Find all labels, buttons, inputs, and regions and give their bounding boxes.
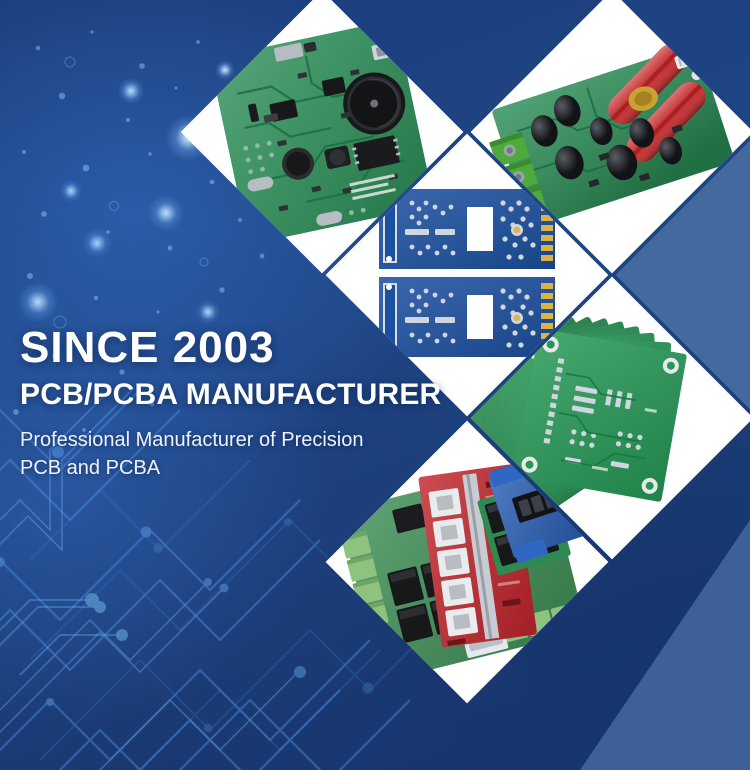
pcb-banner: SINCE 2003 PCB/PCBA MANUFACTURER Profess… — [0, 0, 750, 770]
page-description-line1: Professional Manufacturer of Precision — [20, 429, 364, 451]
page-description: Professional Manufacturer of Precision P… — [20, 426, 441, 483]
page-title: SINCE 2003 — [20, 326, 441, 370]
page-description-line2: PCB and PCBA — [20, 457, 160, 479]
headline-block: SINCE 2003 PCB/PCBA MANUFACTURER Profess… — [20, 326, 441, 483]
page-subtitle: PCB/PCBA MANUFACTURER — [20, 380, 441, 410]
